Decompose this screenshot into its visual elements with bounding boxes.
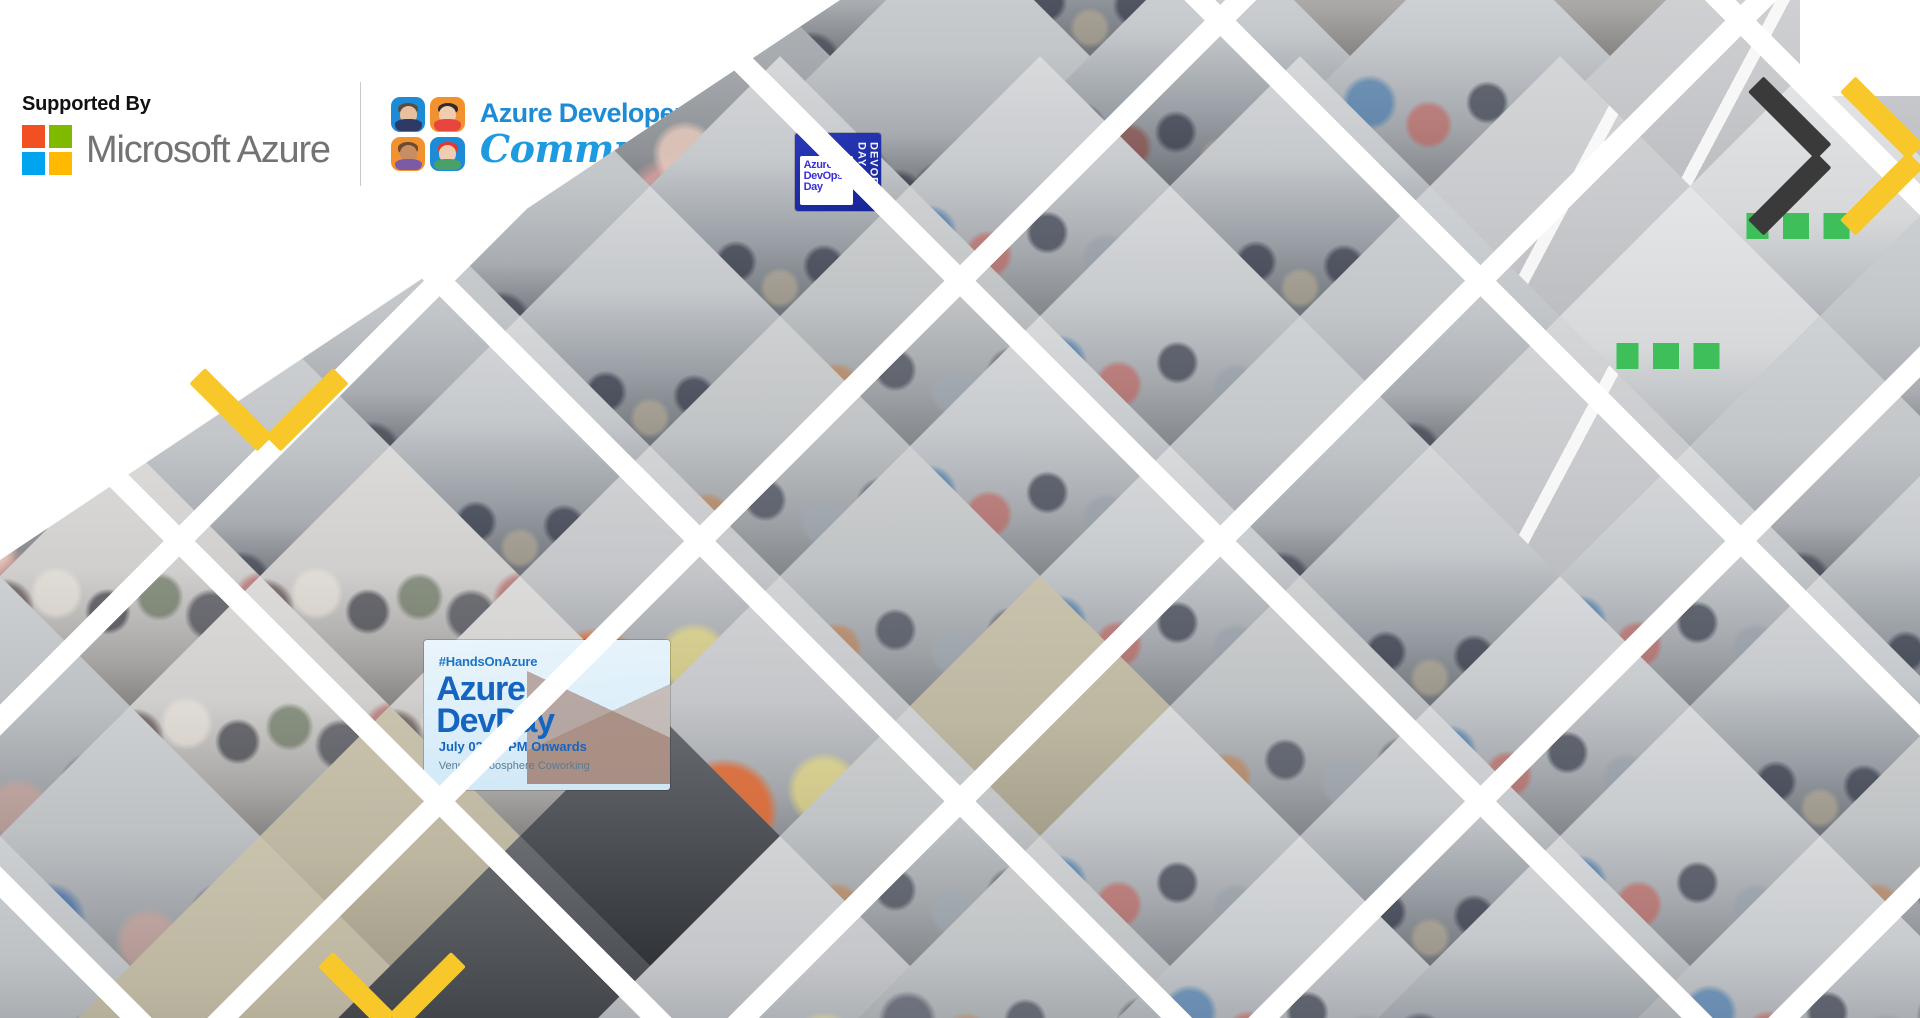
four-avatars-grid-icon	[391, 97, 465, 171]
microsoft-azure-wordmark: Microsoft Azure	[86, 131, 330, 169]
avatar-tile-woman-brown-hair	[391, 137, 426, 172]
bottom-yellow-chevron	[333, 952, 451, 1018]
microsoft-square-yellow	[49, 152, 72, 175]
avatar-body	[434, 159, 461, 171]
right-yellow-chevron	[1840, 92, 1920, 220]
slide-devday-hashtag: #HandsOnAzure	[439, 654, 538, 669]
slide-devday-title-line2: DevDay	[436, 702, 554, 740]
slide-devday-title: Azure DevDay	[436, 673, 554, 738]
slide-devday-when: July 02, 12 PM Onwards	[439, 739, 587, 754]
avatar-body	[395, 119, 422, 131]
avatar-tile-red-haired-person	[430, 137, 465, 172]
slide-devday-venue: Venue: Ecoosphere Coworking	[439, 760, 590, 772]
microsoft-azure-lockup: Supported By Microsoft Azure	[22, 93, 330, 175]
microsoft-squares-icon	[22, 125, 72, 175]
microsoft-square-blue	[22, 152, 45, 175]
left-yellow-chevron	[205, 368, 333, 454]
brand-divider	[360, 82, 361, 186]
slide-azure-devops-day-2: Azure DevOps Day DEVOPS DAY	[795, 133, 881, 211]
avatar-body	[434, 119, 461, 131]
avatar-tile-woman-glasses	[430, 97, 465, 132]
microsoft-square-red	[22, 125, 45, 148]
supported-by-label: Supported By	[22, 93, 330, 116]
microsoft-logo-lockup: Microsoft Azure	[22, 125, 330, 175]
avatar-body	[395, 159, 422, 171]
slide-azure-devday: #HandsOnAzure Azure DevDay July 02, 12 P…	[424, 640, 670, 790]
right-dark-chevron	[1748, 92, 1834, 220]
avatar-tile-bearded-man	[391, 97, 426, 132]
microsoft-square-green	[49, 125, 72, 148]
slide-devops-side-text: DEVOPS DAY	[855, 142, 879, 211]
slide-devops-title: Azure DevOps Day	[804, 160, 850, 194]
event-banner: Azure DevOps Day DEVOPS DAY Azure DevOps…	[0, 0, 1920, 1018]
